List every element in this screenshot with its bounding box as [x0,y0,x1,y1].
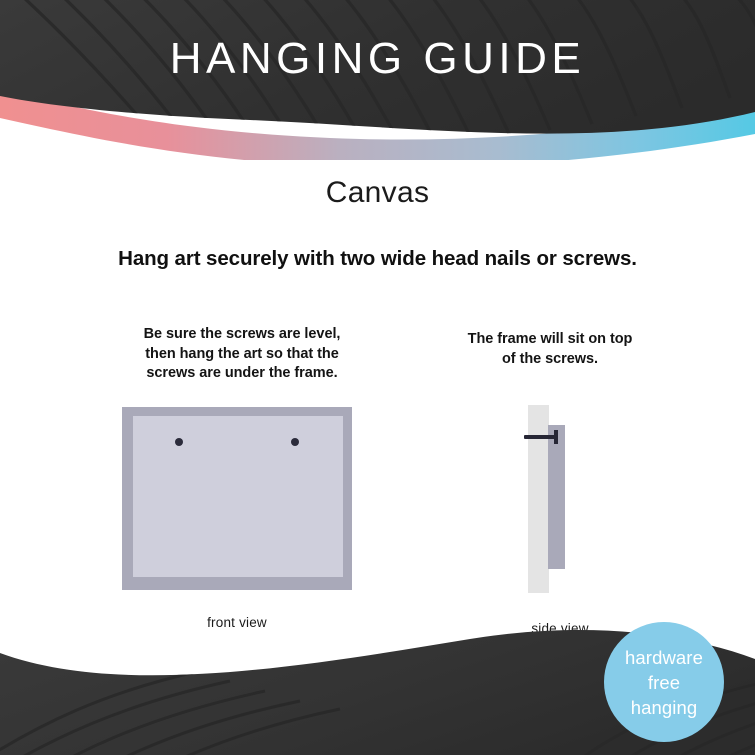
side-view-caption: The frame will sit on top of the screws. [420,330,680,369]
front-view-caption-line-3: screws are under the frame. [97,364,387,384]
page-title: HANGING GUIDE [0,31,755,87]
side-view-caption-line-2: of the screws. [420,350,680,370]
front-view-caption: Be sure the screws are level, then hang … [97,325,387,384]
front-view-canvas-area [133,416,343,577]
front-view-caption-line-1: Be sure the screws are level, [97,325,387,345]
hardware-free-hanging-badge: hardware free hanging [604,622,724,742]
badge-line-3: hanging [631,695,698,720]
screw-head-icon [554,430,558,444]
front-view-diagram [122,407,352,590]
screw-dot-right-icon [291,438,299,446]
header-band: HANGING GUIDE [0,0,755,160]
side-view-diagram [505,400,615,595]
front-view-caption-line-2: then hang the art so that the [97,345,387,365]
intro-text: Hang art securely with two wide head nai… [0,247,755,271]
badge-line-1: hardware [625,645,703,670]
screw-shaft-icon [524,435,558,439]
hanging-guide-page: HANGING GUIDE Canvas Hang art securely w… [0,0,755,755]
front-view-panel: Be sure the screws are level, then hang … [97,325,387,384]
side-view-wall [528,405,549,593]
screw-dot-left-icon [175,438,183,446]
side-view-panel: The frame will sit on top of the screws. [420,330,680,369]
section-title: Canvas [0,176,755,210]
side-view-caption-line-1: The frame will sit on top [420,330,680,350]
side-view-frame [548,425,565,569]
badge-line-2: free [648,670,680,695]
